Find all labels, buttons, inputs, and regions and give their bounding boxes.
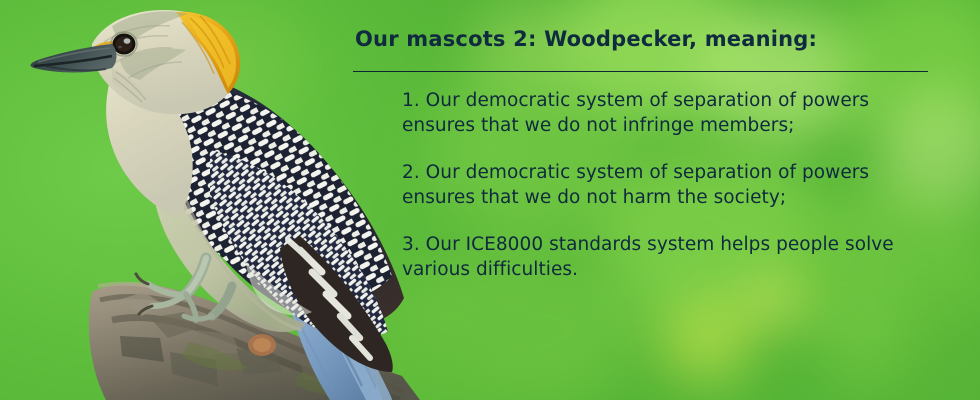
list-item: 2. Our democratic system of separation o…	[402, 160, 932, 210]
list-item: 3. Our ICE8000 standards system helps pe…	[402, 232, 932, 282]
page-title: Our mascots 2: Woodpecker, meaning:	[355, 26, 935, 52]
woodpecker-illustration	[0, 0, 430, 400]
list-item: 1. Our democratic system of separation o…	[402, 88, 932, 138]
mascot-banner: Our mascots 2: Woodpecker, meaning: 1. O…	[0, 0, 980, 400]
title-divider	[353, 71, 928, 72]
meaning-list: 1. Our democratic system of separation o…	[402, 88, 932, 282]
